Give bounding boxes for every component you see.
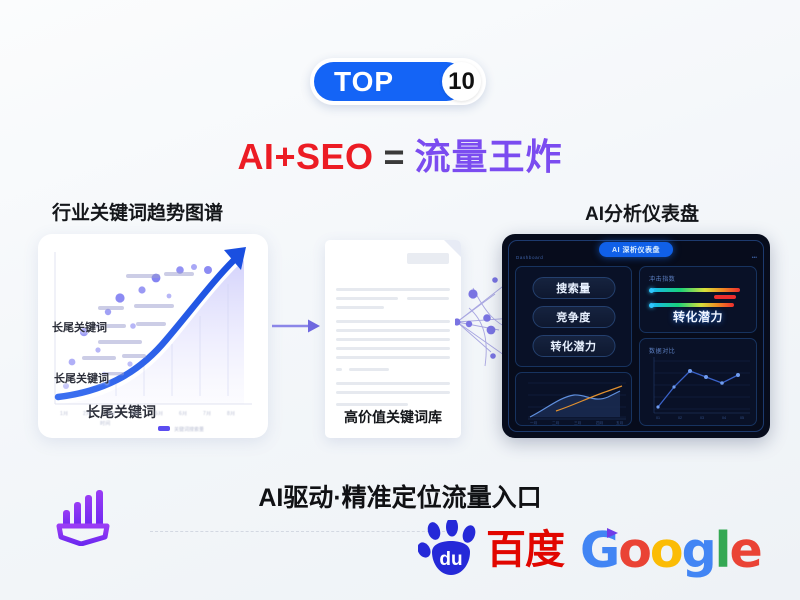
area-tick-2: 二月	[552, 421, 559, 426]
doc-text-line	[407, 297, 449, 300]
baidu-paw-icon: du	[418, 520, 484, 580]
area-chart-panel: 一月 二月 三月 四月 五月	[515, 372, 632, 426]
tagline: AI驱动·精准定位流量入口	[0, 478, 800, 514]
option-search-volume[interactable]: 搜索量	[532, 277, 615, 299]
potential-panel-title: 冲击指数	[649, 274, 675, 283]
doc-text-line	[336, 338, 450, 341]
legend-label: 关键词搜索量	[174, 426, 204, 433]
headline-left: AI+SEO	[237, 136, 373, 177]
google-letter-o1: o	[618, 522, 650, 579]
left-section-caption: 行业关键词趋势图谱	[52, 198, 223, 225]
right-section-caption: AI分析仪表盘	[585, 199, 699, 226]
area-chart-svg	[516, 373, 633, 427]
doc-bullet	[336, 368, 342, 371]
dashboard-brand: Dashboard	[516, 255, 543, 260]
axis-tick-4: 4月	[131, 410, 139, 417]
axis-tick-7: 7月	[203, 410, 211, 417]
google-letter-e: e	[729, 522, 760, 579]
google-letter-g2: g	[682, 522, 715, 579]
area-tick-5: 五月	[616, 421, 623, 426]
gradient-marker-2	[649, 303, 654, 308]
line-tick-1: 01	[656, 416, 660, 420]
dashboard-menu-icon[interactable]: •••	[752, 255, 757, 261]
google-letter-o2: o	[650, 522, 682, 579]
gradient-bar-2	[652, 303, 734, 307]
doc-text-line	[336, 297, 398, 300]
potential-gauge-panel: 冲击指数 转化潜力	[639, 266, 757, 333]
line-tick-5: 05	[740, 416, 744, 420]
gradient-flag	[714, 295, 736, 299]
keyword-label-1: 长尾关键词	[52, 319, 107, 335]
search-engine-logos: du 百度 Google	[418, 520, 761, 580]
doc-text-line	[336, 403, 408, 406]
trend-chart-card: 长尾关键词 长尾关键词 长尾关键词 1月 2月 3月 4月 5月 6月 7月 8…	[38, 234, 268, 438]
gradient-bar-1	[652, 288, 740, 292]
doc-text-line	[336, 306, 384, 309]
ai-dashboard: AI 深析仪表盘 Dashboard ••• 搜索量 竞争度 转化潜力	[502, 234, 770, 438]
line-chart-svg	[640, 339, 758, 427]
doc-text-line	[336, 382, 450, 385]
play-marker-icon	[605, 527, 619, 539]
keyword-library-document: 高价值关键词库	[325, 240, 461, 438]
axis-tick-2: 2月	[83, 410, 91, 417]
potential-overlay-label: 转化潜力	[640, 308, 756, 325]
baidu-wordmark: 百度	[486, 530, 564, 570]
doc-text-line	[336, 288, 450, 291]
doc-header-chip	[407, 253, 449, 264]
axis-note: 时间	[100, 420, 111, 427]
main-headline: AI+SEO=流量王炸	[0, 128, 800, 180]
top-rank-badge: TOP 10	[310, 58, 486, 105]
analytics-bar-icon	[50, 484, 112, 546]
axis-tick-1: 1月	[60, 410, 68, 417]
doc-text-line	[336, 347, 450, 350]
option-competition[interactable]: 竞争度	[532, 306, 615, 328]
baidu-du-text: du	[439, 549, 462, 570]
flow-arrow-icon	[272, 318, 320, 334]
google-letter-l: l	[715, 522, 730, 579]
badge-label: TOP	[334, 66, 394, 98]
dashed-divider	[150, 531, 450, 532]
badge-number: 10	[448, 68, 475, 96]
line-tick-4: 04	[722, 416, 726, 420]
option-conversion-potential[interactable]: 转化潜力	[532, 335, 615, 357]
doc-caption: 高价值关键词库	[325, 407, 461, 427]
legend-swatch	[158, 426, 170, 431]
doc-text-line	[336, 391, 450, 394]
doc-text-line	[349, 368, 389, 371]
headline-equals: =	[384, 136, 405, 177]
comparison-chart-panel: 数据对比	[639, 338, 757, 426]
gradient-marker-1	[649, 288, 654, 293]
doc-text-line	[336, 329, 450, 332]
keyword-label-3: 长尾关键词	[86, 402, 156, 422]
area-tick-4: 四月	[596, 421, 603, 426]
area-tick-3: 三月	[574, 421, 581, 426]
badge-number-circle: 10	[442, 62, 481, 101]
doc-text-line	[336, 356, 450, 359]
line-tick-2: 02	[678, 416, 682, 420]
doc-text-line	[336, 320, 450, 323]
metric-options-panel: 搜索量 竞争度 转化潜力	[515, 266, 632, 367]
poster-canvas: TOP 10 AI+SEO=流量王炸 行业关键词趋势图谱 AI分析仪表盘	[0, 0, 800, 600]
axis-tick-8: 8月	[227, 410, 235, 417]
area-tick-1: 一月	[530, 421, 537, 426]
keyword-label-2: 长尾关键词	[54, 370, 109, 386]
axis-tick-6: 6月	[179, 410, 187, 417]
dashboard-title-pill: AI 深析仪表盘	[599, 242, 673, 257]
line-tick-3: 03	[700, 416, 704, 420]
headline-right: 流量王炸	[415, 136, 563, 177]
axis-tick-3: 3月	[107, 410, 115, 417]
axis-tick-5: 5月	[155, 410, 163, 417]
